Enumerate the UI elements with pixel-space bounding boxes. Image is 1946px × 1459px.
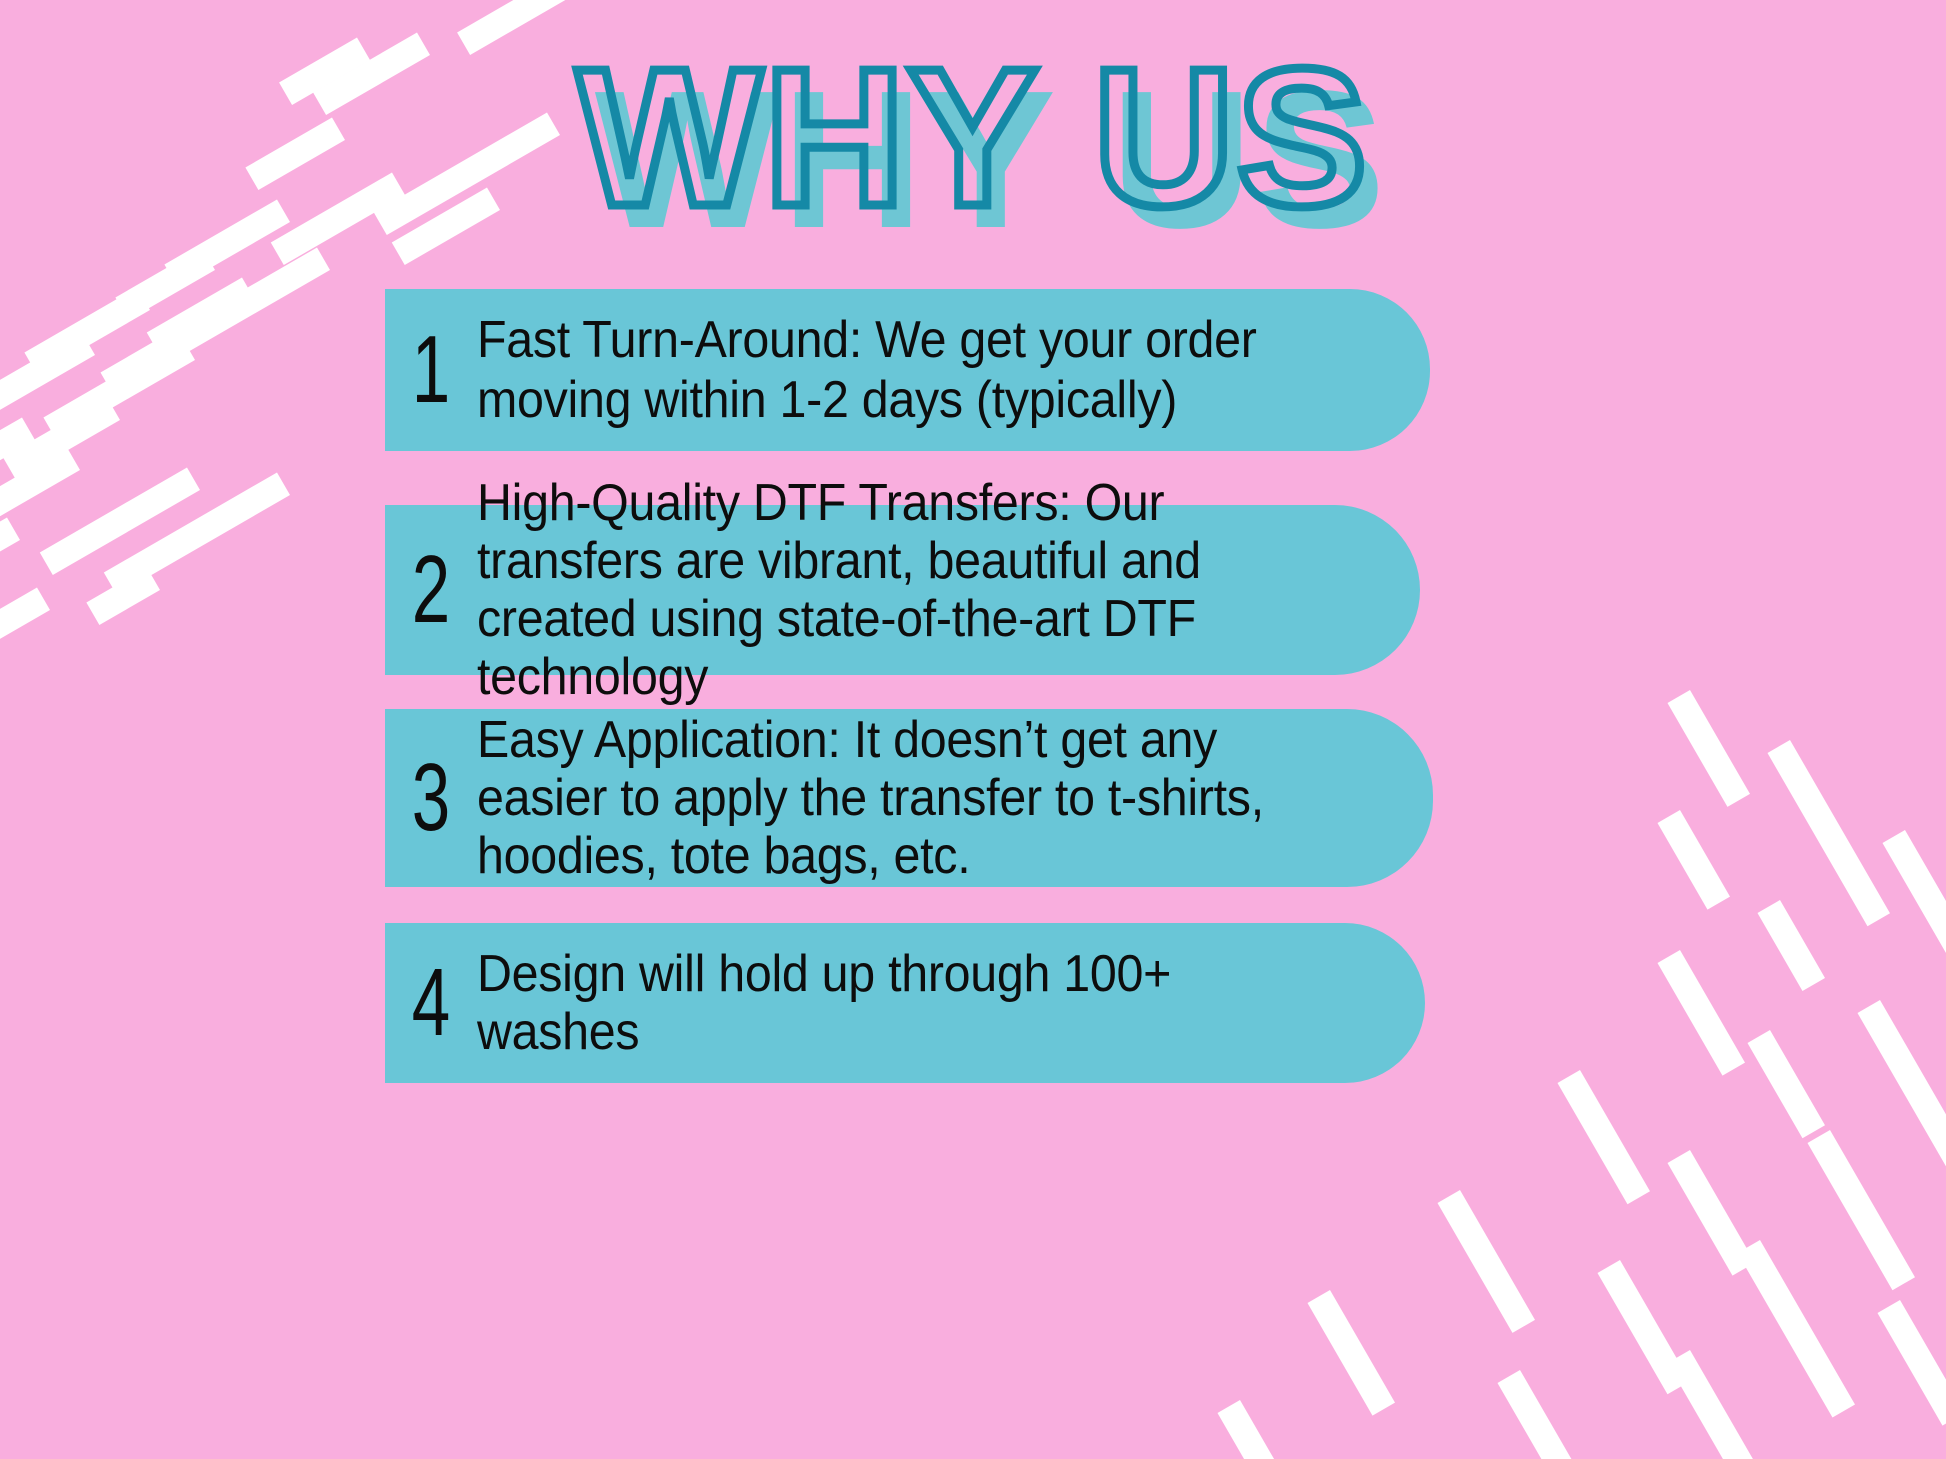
list-item-number: 3 bbox=[398, 750, 464, 846]
list-item-text: High-Quality DTF Transfers: Our transfer… bbox=[477, 474, 1354, 706]
benefits-list: 1 Fast Turn-Around: We get your order mo… bbox=[0, 0, 1946, 1459]
list-item-text: Fast Turn-Around: We get your order movi… bbox=[477, 310, 1363, 430]
list-item-number: 1 bbox=[398, 322, 464, 418]
list-item-number: 4 bbox=[398, 955, 464, 1051]
list-item-number: 2 bbox=[398, 542, 464, 638]
list-item: 3 Easy Application: It doesn’t get any e… bbox=[385, 709, 1433, 887]
list-item-text: Easy Application: It doesn’t get any eas… bbox=[477, 711, 1366, 885]
list-item: 4 Design will hold up through 100+ washe… bbox=[385, 923, 1425, 1083]
poster-canvas: WHY US WHY US 1 Fast Turn-Around: We get… bbox=[0, 0, 1946, 1459]
list-item-text: Design will hold up through 100+ washes bbox=[477, 945, 1359, 1061]
list-item: 1 Fast Turn-Around: We get your order mo… bbox=[385, 289, 1430, 451]
list-item: 2 High-Quality DTF Transfers: Our transf… bbox=[385, 505, 1420, 675]
